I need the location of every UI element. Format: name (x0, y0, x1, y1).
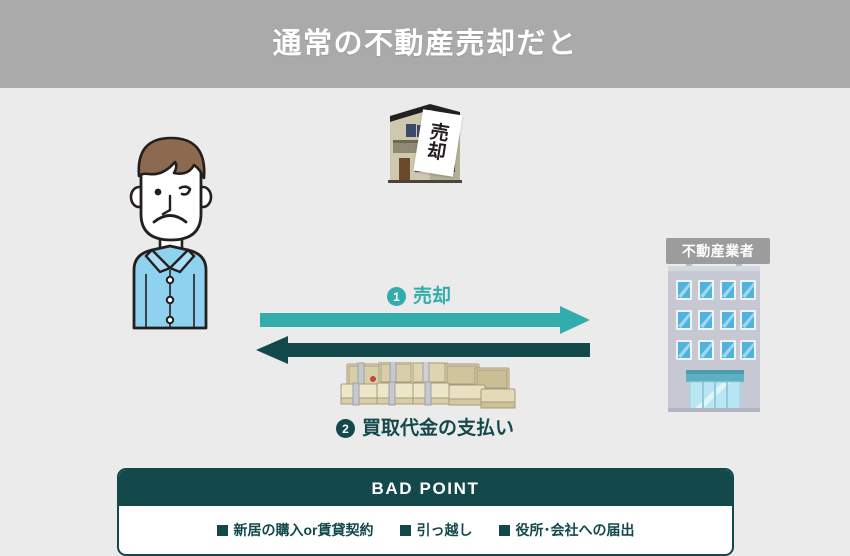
step-label-payment: 2 買取代金の支払い (336, 419, 514, 438)
step-badge-2: 2 (336, 419, 355, 438)
for-sale-sign-char-2: 却 (426, 142, 448, 164)
step-label-sell: 1 売却 (387, 287, 451, 306)
arrow-sell-right (260, 306, 590, 334)
badpoint-item: 役所･会社への届出 (499, 523, 635, 537)
page-header: 通常の不動産売却だと (0, 0, 850, 88)
square-bullet-icon (217, 525, 228, 536)
badpoint-item-label: 役所･会社への届出 (516, 523, 635, 537)
step-text-2: 買取代金の支払い (362, 419, 514, 438)
cash-bundles-illustration (333, 362, 523, 414)
badpoint-item: 引っ越し (400, 523, 473, 537)
agency-sign-banner: 不動産業者 (666, 238, 770, 264)
badpoint-header: BAD POINT (119, 470, 732, 506)
badpoint-title: BAD POINT (372, 480, 480, 497)
real-estate-agency-building (660, 146, 768, 412)
seller-person-illustration (108, 122, 234, 334)
step-badge-1: 1 (387, 287, 406, 306)
badpoint-item-label: 新居の購入or賃貸契約 (234, 523, 374, 537)
square-bullet-icon (499, 525, 510, 536)
diagram-stage: 売 却 1 売却 (0, 88, 850, 508)
square-bullet-icon (400, 525, 411, 536)
step-text-1: 売却 (413, 287, 451, 306)
badpoint-item: 新居の購入or賃貸契約 (217, 523, 374, 537)
page-title: 通常の不動産売却だと (272, 30, 577, 59)
agency-sign-label: 不動産業者 (682, 244, 755, 258)
badpoint-panel: BAD POINT 新居の購入or賃貸契約 引っ越し 役所･会社への届出 (117, 468, 734, 556)
badpoint-item-list: 新居の購入or賃貸契約 引っ越し 役所･会社への届出 (119, 506, 732, 554)
badpoint-item-label: 引っ越し (417, 523, 473, 537)
arrow-payment-left (256, 336, 590, 364)
